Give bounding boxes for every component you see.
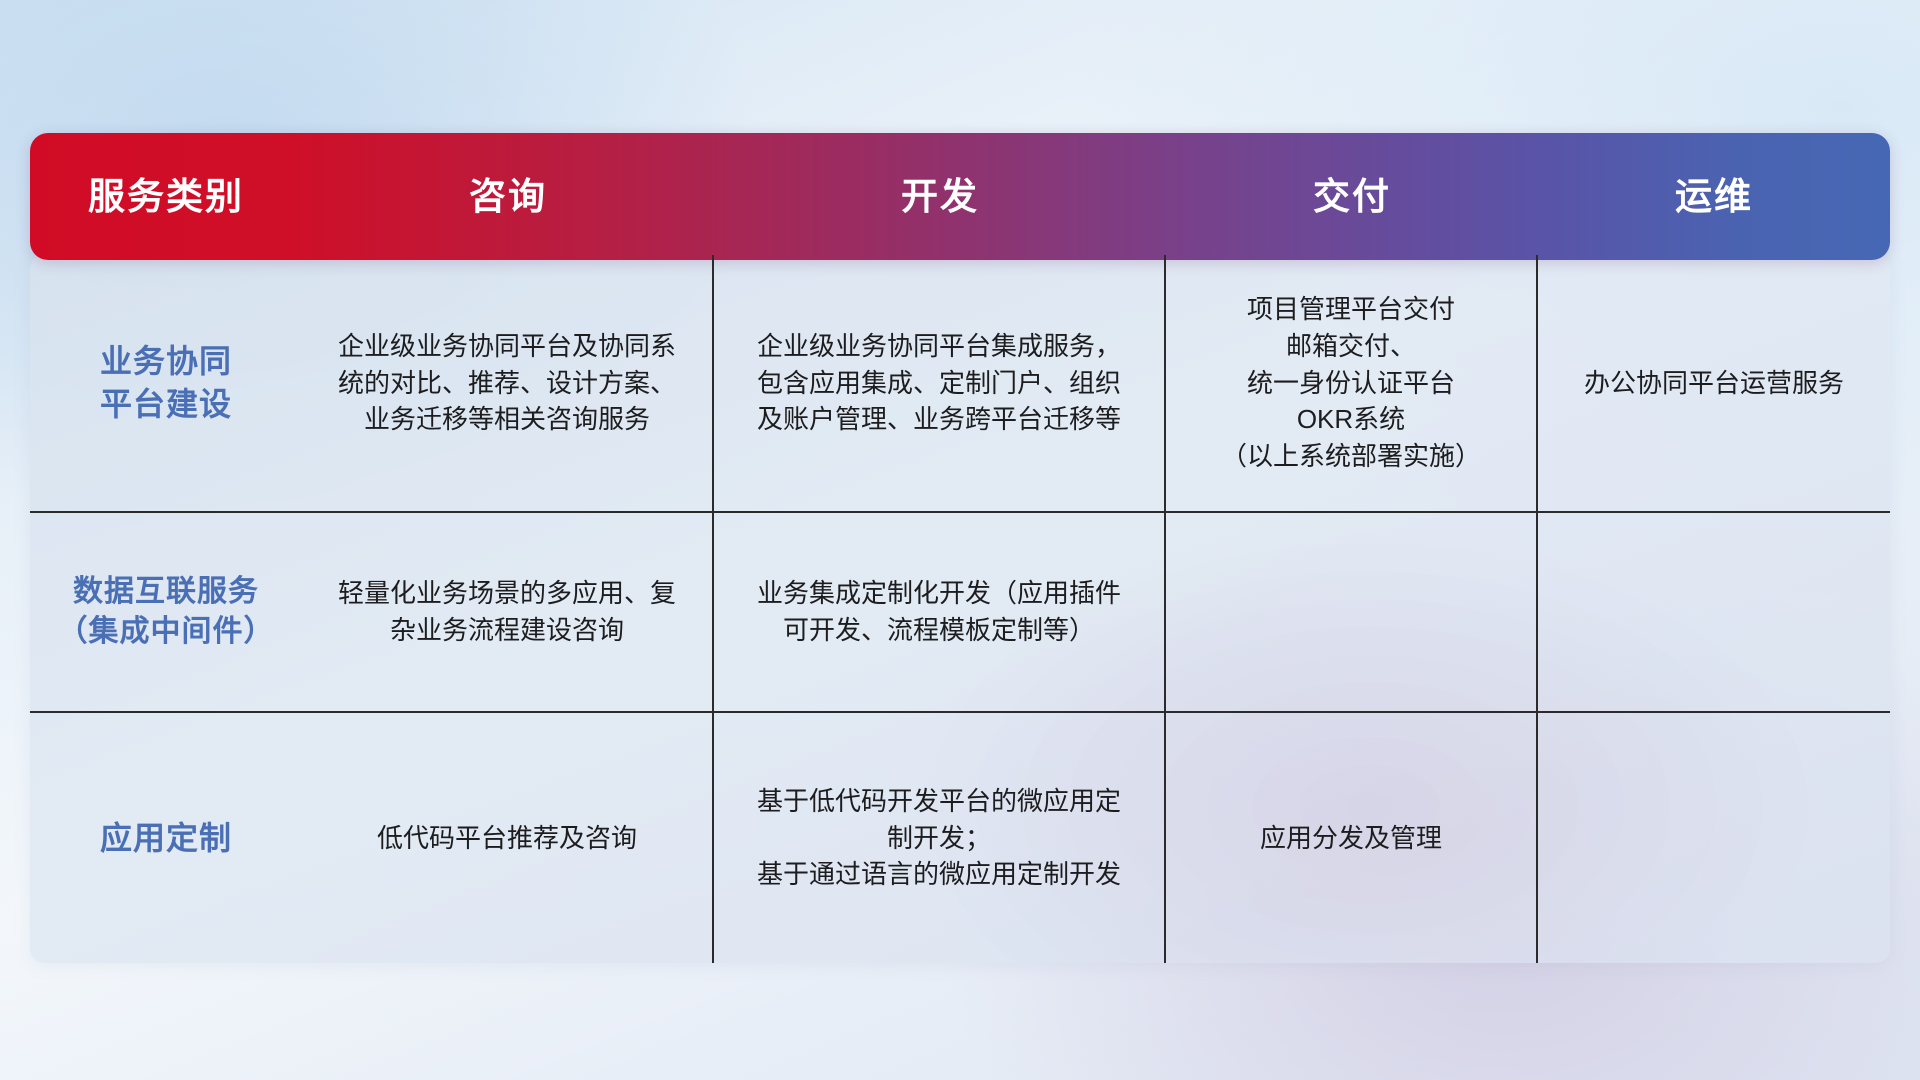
table-body: 业务协同 平台建设 企业级业务协同平台及协同系 统的对比、推荐、设计方案、 业务…: [30, 255, 1890, 963]
table-header-row: 服务类别 咨询 开发 交付 运维: [30, 133, 1890, 260]
cell-development-row1: 企业级业务协同平台集成服务， 包含应用集成、定制门户、组织 及账户管理、业务跨平…: [714, 255, 1166, 511]
header-cell-service-category: 服务类别: [30, 178, 302, 215]
cell-development-row2: 业务集成定制化开发（应用插件 可开发、流程模板定制等）: [714, 513, 1166, 711]
row-label-app-customization: 应用定制: [30, 713, 302, 963]
header-cell-development: 开发: [714, 178, 1166, 215]
cell-consulting-row2: 轻量化业务场景的多应用、复 杂业务流程建设咨询: [302, 513, 714, 711]
header-cell-operations: 运维: [1538, 178, 1890, 215]
cell-operations-row3: [1538, 713, 1890, 963]
cell-delivery-row2: [1166, 513, 1538, 711]
cell-operations-row2: [1538, 513, 1890, 711]
header-cell-delivery: 交付: [1166, 178, 1538, 215]
table-row: 业务协同 平台建设 企业级业务协同平台及协同系 统的对比、推荐、设计方案、 业务…: [30, 255, 1890, 513]
cell-operations-row1: 办公协同平台运营服务: [1538, 255, 1890, 511]
service-matrix-table: 服务类别 咨询 开发 交付 运维 业务协同 平台建设 企业级业务协同平台及协同系…: [30, 133, 1890, 963]
cell-consulting-row1: 企业级业务协同平台及协同系 统的对比、推荐、设计方案、 业务迁移等相关咨询服务: [302, 255, 714, 511]
table-row: 应用定制 低代码平台推荐及咨询 基于低代码开发平台的微应用定 制开发； 基于通过…: [30, 713, 1890, 963]
header-cell-consulting: 咨询: [302, 178, 714, 215]
row-label-data-interconnect: 数据互联服务 （集成中间件）: [30, 513, 302, 711]
row-label-business-collaboration: 业务协同 平台建设: [30, 255, 302, 511]
cell-development-row3: 基于低代码开发平台的微应用定 制开发； 基于通过语言的微应用定制开发: [714, 713, 1166, 963]
cell-delivery-row3: 应用分发及管理: [1166, 713, 1538, 963]
table-row: 数据互联服务 （集成中间件） 轻量化业务场景的多应用、复 杂业务流程建设咨询 业…: [30, 513, 1890, 713]
cell-consulting-row3: 低代码平台推荐及咨询: [302, 713, 714, 963]
slide-canvas: 服务类别 咨询 开发 交付 运维 业务协同 平台建设 企业级业务协同平台及协同系…: [0, 0, 1920, 1080]
cell-delivery-row1: 项目管理平台交付 邮箱交付、 统一身份认证平台 OKR系统 （以上系统部署实施）: [1166, 255, 1538, 511]
